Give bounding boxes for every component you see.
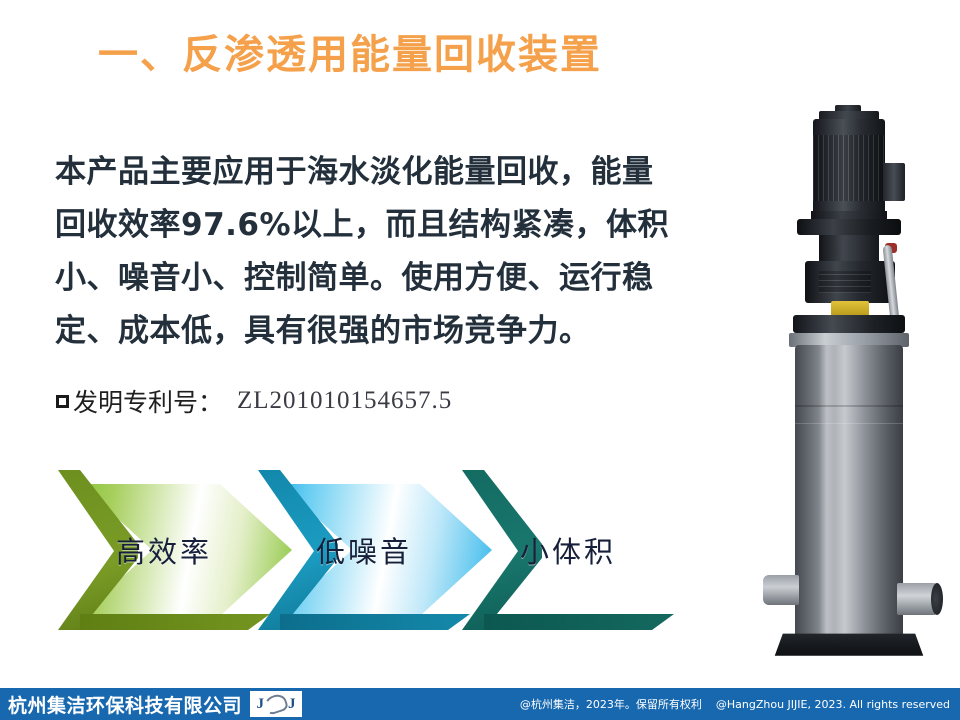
body-line: 本产品主要应用于海水淡化能量回收，能量 <box>55 146 695 199</box>
product-photo <box>735 105 960 660</box>
outlet-nozzle-opening <box>931 583 943 615</box>
patent-number: ZL201010154657.5 <box>237 387 452 415</box>
chevron-small-volume: 小体积 <box>462 470 712 630</box>
page-title: 一、反渗透用能量回收装置 <box>0 32 700 78</box>
body-line: 小、噪音小、控制简单。使用方便、运行稳 <box>55 252 695 305</box>
patent-row: 发明专利号： ZL201010154657.5 <box>56 383 452 419</box>
motor-cooling-fins <box>813 135 885 201</box>
logo-letter-right: J <box>288 696 296 713</box>
mid-flange-dark <box>793 315 905 333</box>
body-line: 定、成本低，具有很强的市场竞争力。 <box>55 305 695 358</box>
barrel-seam <box>795 423 903 424</box>
company-logo: J J <box>250 691 302 717</box>
footer-bar: 杭州集洁环保科技有限公司 J J @杭州集洁，2023年。保留所有权利 @Han… <box>0 688 960 720</box>
company-name: 杭州集洁环保科技有限公司 <box>8 691 242 718</box>
logo-letter-left: J <box>257 696 265 713</box>
pump-neck <box>819 235 879 261</box>
coupling-window <box>819 271 871 293</box>
copyright-chinese: @杭州集洁，2023年。保留所有权利 <box>520 696 702 712</box>
barrel-seam <box>795 405 903 407</box>
body-paragraph: 本产品主要应用于海水淡化能量回收，能量 回收效率97.6%以上，而且结构紧凑，体… <box>55 146 695 358</box>
chevron-process-graphic: 高效率 低噪音 小体积 <box>0 470 720 645</box>
barrel-highlight <box>819 345 835 645</box>
patent-label: 发明专利号： <box>73 383 223 419</box>
junction-box <box>883 163 905 201</box>
square-bullet-icon <box>56 395 69 408</box>
inlet-nozzle <box>763 575 799 605</box>
footer-copyright: @杭州集洁，2023年。保留所有权利 @HangZhou JIJIE, 2023… <box>520 688 950 720</box>
yellow-tag <box>831 301 869 316</box>
slide-root: 一、反渗透用能量回收装置 本产品主要应用于海水淡化能量回收，能量 回收效率97.… <box>0 0 960 720</box>
copyright-english: @HangZhou JIJIE, 2023. All rights reserv… <box>716 698 950 711</box>
body-line: 回收效率97.6%以上，而且结构紧凑，体积 <box>55 199 695 252</box>
chevron-label: 小体积 <box>462 470 712 630</box>
logo-swirl-icon <box>263 692 289 716</box>
upper-flange <box>797 219 901 235</box>
footer-brand: 杭州集洁环保科技有限公司 J J <box>8 688 302 720</box>
pump-base-plate <box>775 634 924 656</box>
stainless-barrel <box>795 345 903 645</box>
